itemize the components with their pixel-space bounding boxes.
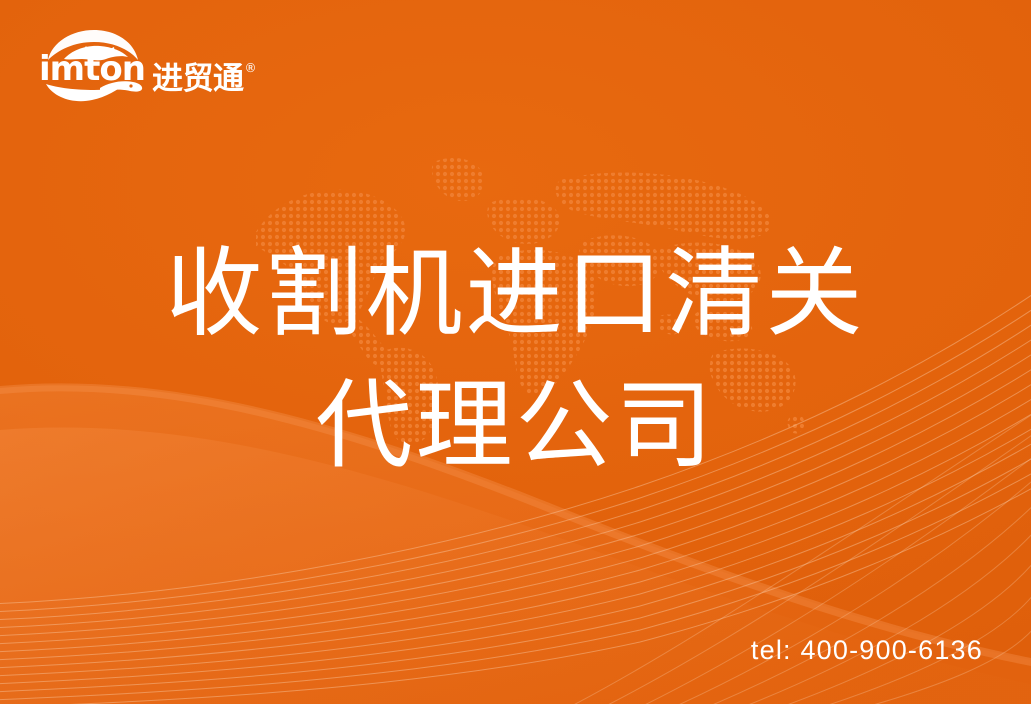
brand-logo-cn: 进贸通 <box>152 64 244 95</box>
registered-mark: ® <box>245 62 257 74</box>
contact-phone[interactable]: tel: 400-900-6136 <box>751 635 983 666</box>
page-title: 收割机进口清关 代理公司 <box>0 228 1031 492</box>
poster-canvas: imton 进贸通 ® 收割机进口清关 代理公司 tel: 400-900-61… <box>0 0 1031 704</box>
headline-line-1: 收割机进口清关 <box>0 228 1031 360</box>
globe-swoosh-icon: imton <box>38 26 150 104</box>
headline-line-2: 代理公司 <box>0 360 1031 492</box>
svg-text:imton: imton <box>39 49 145 89</box>
brand-logo[interactable]: imton 进贸通 ® <box>38 24 278 104</box>
